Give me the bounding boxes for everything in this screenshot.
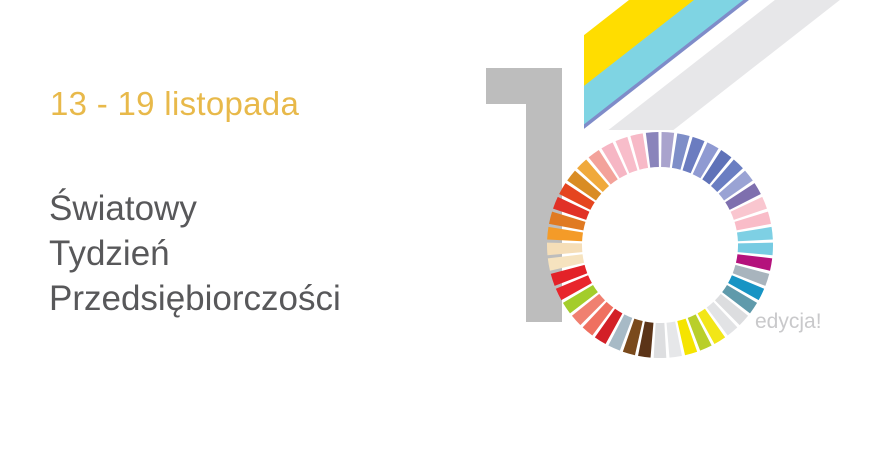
poster-canvas: 13 - 19 listopada Światowy Tydzień Przed… (0, 0, 884, 453)
edition-word: edycja! (755, 310, 822, 334)
event-date-range: 13 - 19 listopada (50, 85, 299, 123)
headline-line-2: Tydzień (49, 231, 341, 276)
ring-segment (738, 243, 773, 256)
footer-logos: GLOBAL ENTREPRENEURSHIP WEEK Koordynator… (0, 358, 884, 453)
page-title: Światowy Tydzień Przedsiębiorczości (49, 186, 341, 321)
ring-segment (654, 323, 667, 358)
colorful-donut-ring (545, 130, 775, 360)
ring-segment (661, 132, 674, 168)
edition-ten-graphic: edycja! (470, 60, 800, 360)
donut-ring-svg (545, 130, 775, 360)
ring-segment (547, 243, 582, 256)
headline-line-1: Światowy (49, 186, 341, 231)
headline-line-3: Przedsiębiorczości (49, 276, 341, 321)
ring-segment (646, 132, 659, 168)
